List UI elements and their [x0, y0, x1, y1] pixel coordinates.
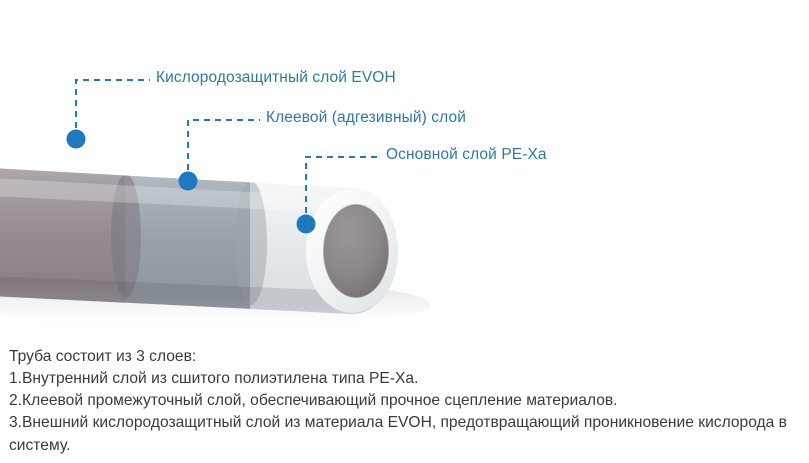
callout-dot-evoh[interactable] [67, 130, 86, 149]
pipe-illustration [0, 0, 809, 340]
callout-label-evoh: Кислородозащитный слой EVOH [156, 70, 396, 86]
description-item-2: 2.Клеевой промежуточный слой, обеспечива… [9, 390, 804, 412]
callout-label-glue: Клеевой (адгезивный) слой [266, 110, 466, 126]
leader-line-evoh [76, 80, 150, 139]
description-item-3: 3.Внешний кислородозащитный слой из мате… [9, 412, 804, 456]
callout-label-pexa: Основной слой PE-Xa [386, 147, 547, 163]
description-block: Труба состоит из 3 слоев: 1.Внутренний с… [9, 346, 804, 457]
leader-line-glue [188, 120, 260, 181]
pipe-diagram-figure: Кислородозащитный слой EVOH Клеевой (адг… [0, 0, 809, 340]
callout-dot-pexa[interactable] [297, 215, 316, 234]
description-item-1: 1.Внутренний слой из сшитого полиэтилена… [9, 368, 804, 390]
description-intro: Труба состоит из 3 слоев: [9, 346, 804, 368]
callout-dot-glue[interactable] [179, 172, 198, 191]
